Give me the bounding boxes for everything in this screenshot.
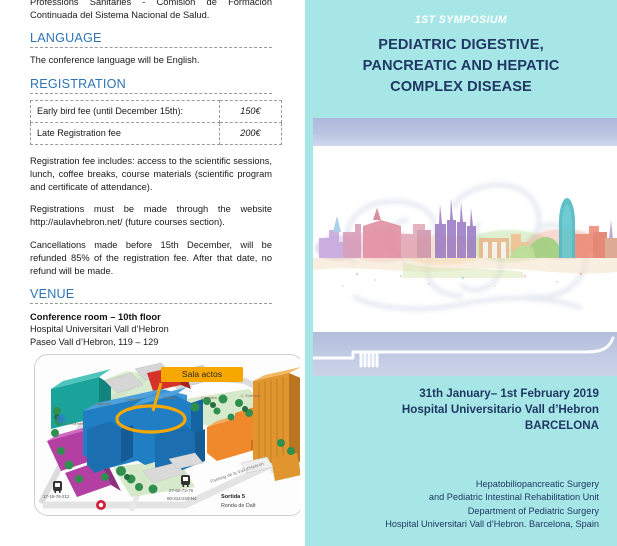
title-line-3: COMPLEX DISEASE bbox=[319, 77, 603, 98]
section-heading-language: LANGUAGE bbox=[30, 31, 272, 45]
section-rule-venue bbox=[30, 303, 272, 304]
map-bus-routes-left: 17-19-76-212 bbox=[43, 494, 69, 499]
map-bus-routes-center-1: 27-60-73-76 bbox=[169, 488, 193, 493]
venue-address: Paseo Vall d’Hebron, 119 – 129 bbox=[30, 336, 272, 349]
section-heading-venue: VENUE bbox=[30, 287, 272, 301]
fee-value: 150€ bbox=[219, 100, 281, 122]
registration-fee-table: Early bird fee (until December 15th): 15… bbox=[30, 100, 282, 145]
right-cover-panel: 1ST SYMPOSIUM PEDIATRIC DIGESTIVE, PANCR… bbox=[305, 0, 617, 546]
fee-label: Late Registration fee bbox=[31, 122, 220, 144]
venue-map[interactable]: Urgències Infantil Traumat. Consultes C.… bbox=[34, 354, 300, 516]
dates-line-1: 31th January– 1st February 2019 bbox=[305, 386, 617, 402]
page-title: PEDIATRIC DIGESTIVE, PANCREATIC AND HEPA… bbox=[319, 35, 603, 98]
venue-hospital: Hospital Universitari Vall d’Hebron bbox=[30, 323, 272, 336]
map-bus-routes-center-2: 80-212-219-N4 bbox=[167, 496, 197, 501]
map-exit-sublabel: Ronda de Dalt bbox=[221, 503, 255, 509]
credit-line-4: Hospital Universitari Vall d’Hebron. Bar… bbox=[305, 518, 617, 531]
svg-text:Consultes: Consultes bbox=[201, 396, 217, 400]
title-line-2: PANCREATIC AND HEPATIC bbox=[319, 56, 603, 77]
organizer-credits-block: Hepatobiliopancreatic Surgery and Pediat… bbox=[305, 478, 617, 532]
dates-line-2: Hospital Universitario Vall d’Hebron bbox=[305, 402, 617, 418]
map-callout-sala-actos[interactable]: Sala actos bbox=[161, 367, 243, 382]
section-rule-registration bbox=[30, 93, 272, 94]
svg-text:Traumat.: Traumat. bbox=[163, 396, 177, 400]
event-dates-block: 31th January– 1st February 2019 Hospital… bbox=[305, 386, 617, 434]
registration-paragraph-cancellation: Cancellations made before 15th December,… bbox=[30, 239, 272, 279]
language-text: The conference language will be English. bbox=[30, 54, 272, 67]
dates-line-3: BARCELONA bbox=[305, 418, 617, 434]
section-rule-language bbox=[30, 47, 272, 48]
venue-room: Conference room – 10th floor bbox=[30, 310, 272, 323]
fee-label: Early bird fee (until December 15th): bbox=[31, 100, 220, 122]
barcelona-skyline-illustration bbox=[313, 146, 617, 332]
registration-paragraph-includes: Registration fee includes: access to the… bbox=[30, 155, 272, 195]
fee-value: 200€ bbox=[219, 122, 281, 144]
left-content-column: Professions Sanitàries - Comisión de For… bbox=[0, 0, 300, 546]
intro-paragraph: Professions Sanitàries - Comisión de For… bbox=[30, 0, 272, 22]
registration-paragraph-website: Registrations must be made through the w… bbox=[30, 203, 272, 229]
top-decorative-band bbox=[313, 118, 617, 146]
bottom-decorative-band bbox=[313, 332, 617, 376]
svg-text:Urgències: Urgències bbox=[95, 402, 111, 406]
svg-text:Infantil: Infantil bbox=[127, 398, 138, 402]
svg-text:C. Externes: C. Externes bbox=[65, 422, 84, 426]
credit-line-1: Hepatobiliopancreatic Surgery bbox=[305, 478, 617, 491]
svg-text:C. Externes: C. Externes bbox=[241, 394, 260, 398]
brochure-page: Professions Sanitàries - Comisión de For… bbox=[0, 0, 617, 546]
section-heading-registration: REGISTRATION bbox=[30, 77, 272, 91]
symposium-label: 1ST SYMPOSIUM bbox=[305, 14, 617, 26]
credit-line-2: and Pediatric Intestinal Rehabilitation … bbox=[305, 491, 617, 504]
table-row: Early bird fee (until December 15th): 15… bbox=[31, 100, 282, 122]
credit-line-3: Department of Pediatric Surgery bbox=[305, 505, 617, 518]
comb-motif-icon bbox=[313, 332, 617, 376]
title-line-1: PEDIATRIC DIGESTIVE, bbox=[319, 35, 603, 56]
map-exit-label: Sortida 5 bbox=[221, 494, 245, 500]
table-row: Late Registration fee 200€ bbox=[31, 122, 282, 144]
